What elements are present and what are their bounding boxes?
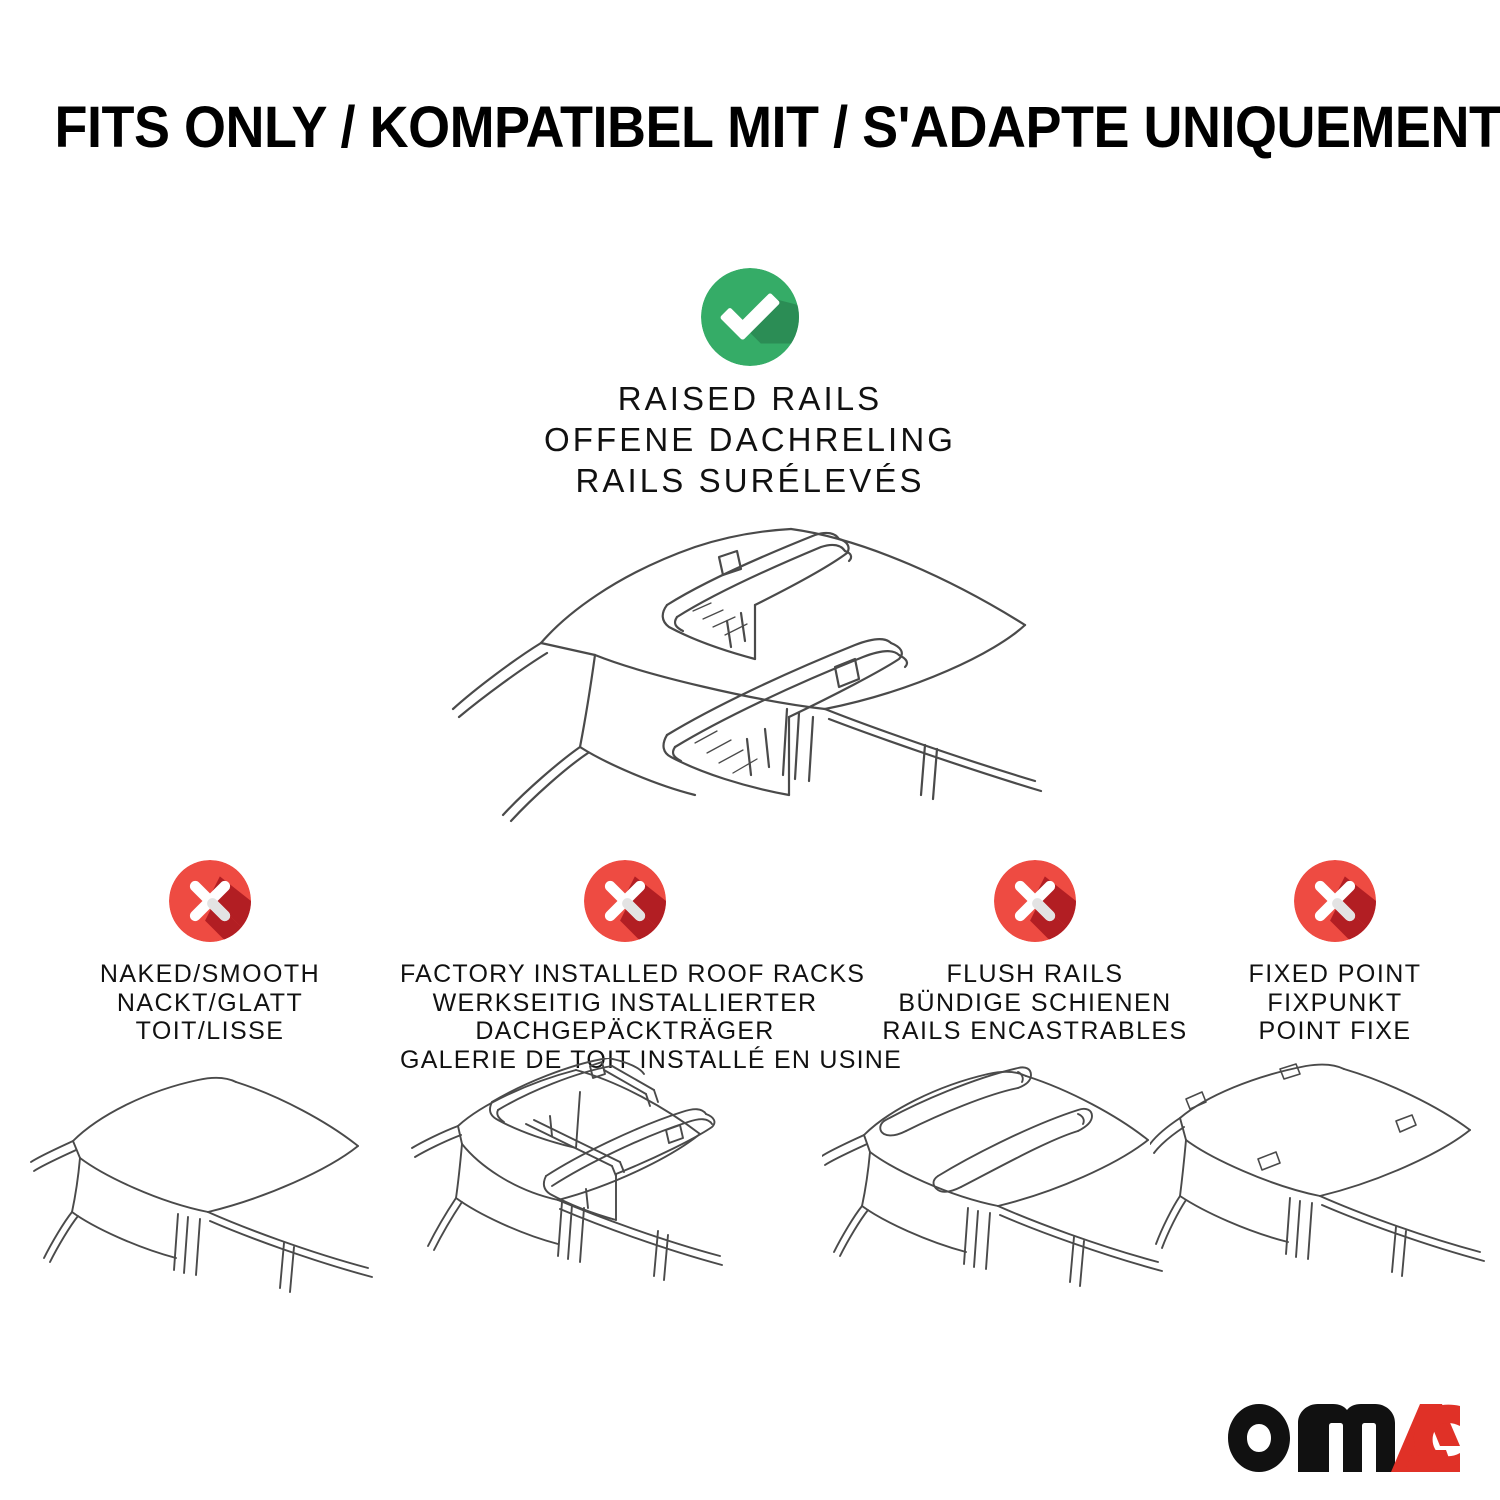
incompatible-caption-line: FLUSH RAILS [860,960,1210,989]
incompatible-caption: FACTORY INSTALLED ROOF RACKS WERKSEITIG … [400,960,850,1074]
car-roof-raised-rails-illustration [395,495,1105,840]
incompatible-caption-line: BÜNDIGE SCHIENEN [860,989,1210,1018]
x-circle-icon [1294,860,1376,942]
incompatible-caption-line: RAILS ENCASTRABLES [860,1017,1210,1046]
incompatible-caption-line: NACKT/GLATT [40,989,380,1018]
incompatible-caption: FIXED POINT FIXPUNKT POINT FIXE [1190,960,1480,1046]
car-roof-fixed-point-illustration [1150,1058,1500,1298]
incompatible-caption-line: TOIT/LISSE [40,1017,380,1046]
incompatible-caption: NAKED/SMOOTH NACKT/GLATT TOIT/LISSE [40,960,380,1046]
logo-letter-o [1228,1404,1290,1472]
incompatible-caption: FLUSH RAILS BÜNDIGE SCHIENEN RAILS ENCAS… [860,960,1210,1046]
page-title: FITS ONLY / KOMPATIBEL MIT / S'ADAPTE UN… [0,96,1500,160]
x-circle-icon [584,860,666,942]
incompatible-caption-line: FIXPUNKT [1190,989,1480,1018]
omac-logo [1228,1404,1460,1472]
car-roof-factory-racks-illustration [400,1058,780,1298]
incompatible-caption-line: FACTORY INSTALLED ROOF RACKS [400,960,850,989]
incompatible-caption-line: WERKSEITIG INSTALLIERTER [400,989,850,1018]
car-roof-flush-rails-illustration [822,1058,1194,1298]
approved-caption: RAISED RAILS OFFENE DACHRELING RAILS SUR… [250,378,1250,501]
car-roof-naked-smooth-illustration [28,1058,400,1298]
incompatible-caption-line: POINT FIXE [1190,1017,1480,1046]
approved-caption-line: OFFENE DACHRELING [250,419,1250,460]
incompatible-caption-line: NAKED/SMOOTH [40,960,380,989]
incompatible-caption-line: DACHGEPÄCKTRÄGER [400,1017,850,1046]
logo-letter-m [1298,1404,1395,1472]
page-title-text: FITS ONLY / KOMPATIBEL MIT / S'ADAPTE UN… [54,96,1500,160]
approved-caption-line: RAISED RAILS [250,378,1250,419]
incompatible-caption-line: FIXED POINT [1190,960,1480,989]
x-circle-icon [994,860,1076,942]
check-circle-icon [701,268,799,366]
x-circle-icon [169,860,251,942]
